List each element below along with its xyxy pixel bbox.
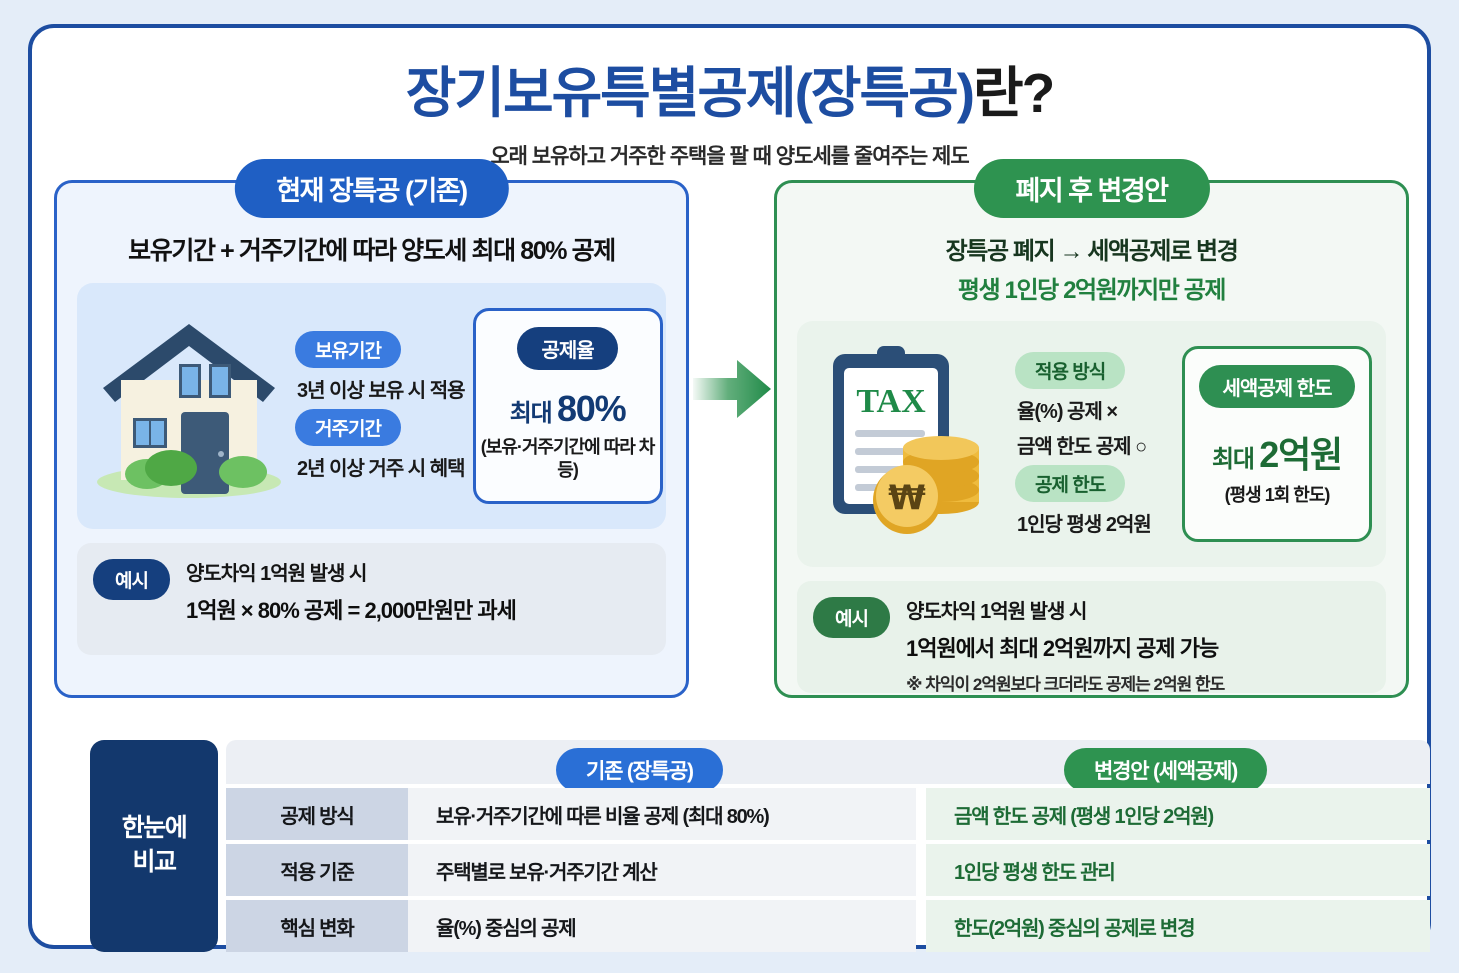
pill-deduction-limit: 공제 한도 xyxy=(1015,465,1125,502)
panel-proposed-scheme: 폐지 후 변경안 장특공 폐지 → 세액공제로 변경 평생 1인당 2억원까지만… xyxy=(774,180,1409,698)
row-new-value: 1인당 평생 한도 관리 xyxy=(926,844,1430,896)
proposed-example-line2: 1억원에서 최대 2억원까지 공제 가능 xyxy=(906,631,1224,663)
text-deduction-limit: 1인당 평생 2억원 xyxy=(1015,508,1174,537)
row-old-value: 보유·거주기간에 따른 비율 공제 (최대 80%) xyxy=(408,788,916,840)
page-subtitle: 오래 보유하고 거주한 주택을 팔 때 양도세를 줄여주는 제도 xyxy=(32,140,1427,170)
comparison-rows: 공제 방식 보유·거주기간에 따른 비율 공제 (최대 80%) 금액 한도 공… xyxy=(226,788,1430,956)
comparison-title: 한눈에 비교 xyxy=(90,740,218,952)
proposed-example-badge: 예시 xyxy=(813,597,890,638)
panels-row: 현재 장특공 (기존) 보유기간 + 거주기간에 따라 양도세 최대 80% 공… xyxy=(54,180,1409,720)
proposed-example-line1: 양도차익 1억원 발생 시 xyxy=(906,595,1224,624)
comparison-grid: 기존 (장특공) 변경안 (세액공제) 공제 방식 보유·거주기간에 따른 비율… xyxy=(226,740,1430,952)
transition-arrow xyxy=(689,180,774,420)
deduction-rate-value: 최대 80% xyxy=(510,388,626,430)
won-symbol: ₩ xyxy=(888,478,926,518)
page-title-tail: 란? xyxy=(973,62,1053,124)
panel-current-content: 보유기간 3년 이상 보유 시 적용 거주기간 2년 이상 거주 시 혜택 공제… xyxy=(77,283,666,529)
row-new-value: 금액 한도 공제 (평생 1인당 2억원) xyxy=(926,788,1430,840)
row-gap xyxy=(916,844,926,896)
pill-residence-period: 거주기간 xyxy=(295,409,401,446)
comparison-header-row: 기존 (장특공) 변경안 (세액공제) xyxy=(226,740,1430,784)
row-old-value: 주택별로 보유·거주기간 계산 xyxy=(408,844,916,896)
comparison-title-line2: 비교 xyxy=(132,846,175,880)
current-items: 보유기간 3년 이상 보유 시 적용 거주기간 2년 이상 거주 시 혜택 xyxy=(295,331,465,481)
pill-holding-period: 보유기간 xyxy=(295,331,401,368)
proposed-items: 적용 방식 율(%) 공제 × 금액 한도 공제 ○ 공제 한도 1인당 평생 … xyxy=(1015,352,1174,537)
text-residence-period: 2년 이상 거주 시 혜택 xyxy=(295,452,465,481)
page-title: 장기보유특별공제(장특공)란? xyxy=(32,48,1427,128)
row-label: 적용 기준 xyxy=(226,844,408,896)
tax-credit-limit-card: 세액공제 한도 최대 2억원 (평생 1회 한도) xyxy=(1182,346,1372,542)
tax-credit-limit-note: (평생 1회 한도) xyxy=(1225,484,1330,507)
current-example-line2: 1억원 × 80% 공제 = 2,000만원만 과세 xyxy=(186,593,516,625)
tax-label: TAX xyxy=(856,383,926,420)
column-header-new: 변경안 (세액공제) xyxy=(1064,748,1267,792)
deduction-rate-note: (보유·거주기간에 따라 차등) xyxy=(476,436,660,481)
row-new-value: 한도(2억원) 중심의 공제로 변경 xyxy=(926,900,1430,952)
infographic-frame: 장기보유특별공제(장특공)란? 오래 보유하고 거주한 주택을 팔 때 양도세를… xyxy=(28,24,1431,949)
tax-credit-number: 2억원 xyxy=(1259,434,1342,475)
current-example-badge: 예시 xyxy=(93,559,170,600)
deduction-rate-number: 80% xyxy=(557,388,625,429)
row-gap xyxy=(916,900,926,952)
panel-current-scheme: 현재 장특공 (기존) 보유기간 + 거주기간에 따라 양도세 최대 80% 공… xyxy=(54,180,689,698)
proposed-example: 예시 양도차익 1억원 발생 시 1억원에서 최대 2억원까지 공제 가능 ※ … xyxy=(797,581,1386,693)
tax-clipboard-coins-icon: TAX xyxy=(811,344,1007,544)
column-header-old: 기존 (장특공) xyxy=(556,748,723,792)
right-arrow-icon xyxy=(693,358,771,420)
text-application-method-2: 금액 한도 공제 ○ xyxy=(1015,430,1174,459)
tax-credit-limit-value: 최대 2억원 xyxy=(1212,426,1342,478)
deduction-rate-prefix: 최대 xyxy=(510,400,557,427)
text-application-method-1: 율(%) 공제 × xyxy=(1015,395,1174,424)
row-gap xyxy=(916,788,926,840)
panel-proposed-badge: 폐지 후 변경안 xyxy=(973,159,1209,218)
table-row: 공제 방식 보유·거주기간에 따른 비율 공제 (최대 80%) 금액 한도 공… xyxy=(226,788,1430,840)
deduction-rate-badge: 공제율 xyxy=(517,327,617,370)
row-old-value: 율(%) 중심의 공제 xyxy=(408,900,916,952)
table-row: 적용 기준 주택별로 보유·거주기간 계산 1인당 평생 한도 관리 xyxy=(226,844,1430,896)
current-example-line1: 양도차익 1억원 발생 시 xyxy=(186,557,516,586)
row-label: 공제 방식 xyxy=(226,788,408,840)
house-icon xyxy=(91,306,287,506)
current-example: 예시 양도차익 1억원 발생 시 1억원 × 80% 공제 = 2,000만원만… xyxy=(77,543,666,655)
panel-proposed-headline2: 평생 1인당 2억원까지만 공제 xyxy=(797,270,1386,305)
panel-proposed-content: TAX xyxy=(797,321,1386,567)
table-row: 핵심 변화 율(%) 중심의 공제 한도(2억원) 중심의 공제로 변경 xyxy=(226,900,1430,952)
text-holding-period: 3년 이상 보유 시 적용 xyxy=(295,374,465,403)
pill-application-method: 적용 방식 xyxy=(1015,352,1125,389)
deduction-rate-card: 공제율 최대 80% (보유·거주기간에 따라 차등) xyxy=(473,308,663,504)
comparison-table: 한눈에 비교 기존 (장특공) 변경안 (세액공제) 공제 방식 보유·거주기간… xyxy=(90,740,1430,952)
tax-credit-prefix: 최대 xyxy=(1212,446,1259,473)
tax-credit-limit-badge: 세액공제 한도 xyxy=(1199,365,1356,408)
panel-current-badge: 현재 장특공 (기존) xyxy=(234,159,508,218)
row-label: 핵심 변화 xyxy=(226,900,408,952)
panel-current-headline: 보유기간 + 거주기간에 따라 양도세 최대 80% 공제 xyxy=(77,231,666,267)
page-title-main: 장기보유특별공제(장특공) xyxy=(406,62,973,124)
comparison-title-line1: 한눈에 xyxy=(122,812,187,846)
panel-proposed-headline1: 장특공 폐지 → 세액공제로 변경 xyxy=(797,231,1386,266)
proposed-example-line3: ※ 차익이 2억원보다 크더라도 공제는 2억원 한도 xyxy=(906,670,1224,695)
